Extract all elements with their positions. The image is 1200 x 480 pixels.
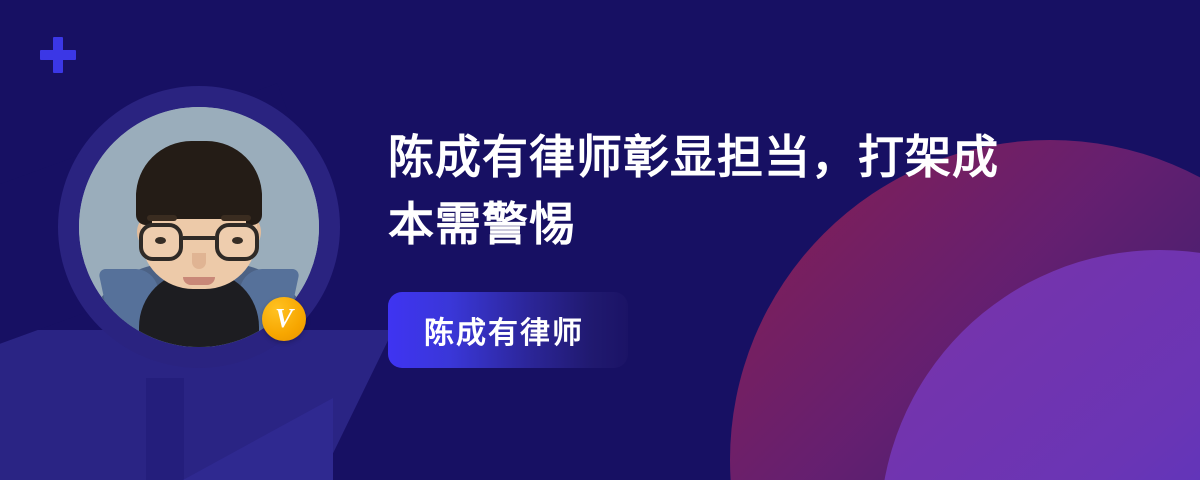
author-button[interactable]: 陈成有律师 [388,292,628,368]
article-banner: V 陈成有律师彰显担当，打架成本需警惕 陈成有律师 [0,0,1200,480]
glasses-lens-right [215,223,259,261]
banner-content: 陈成有律师彰显担当，打架成本需警惕 陈成有律师 [388,124,1088,368]
portrait-hair [136,141,262,219]
author-button-label: 陈成有律师 [424,308,584,352]
decorative-stem-shape [146,378,184,480]
decorative-wedge-triangle [183,398,333,480]
verified-badge-icon: V [262,297,306,341]
verified-badge-label: V [275,305,293,332]
plus-icon [40,37,76,73]
glasses-lens-left [139,223,183,261]
portrait-mouth [183,277,215,285]
glasses-bridge [183,236,215,240]
page-title: 陈成有律师彰显担当，打架成本需警惕 [388,124,1008,258]
portrait-brow-right [221,215,251,221]
portrait-nose [192,253,206,269]
portrait-brow-left [147,215,177,221]
avatar[interactable]: V [58,86,340,368]
